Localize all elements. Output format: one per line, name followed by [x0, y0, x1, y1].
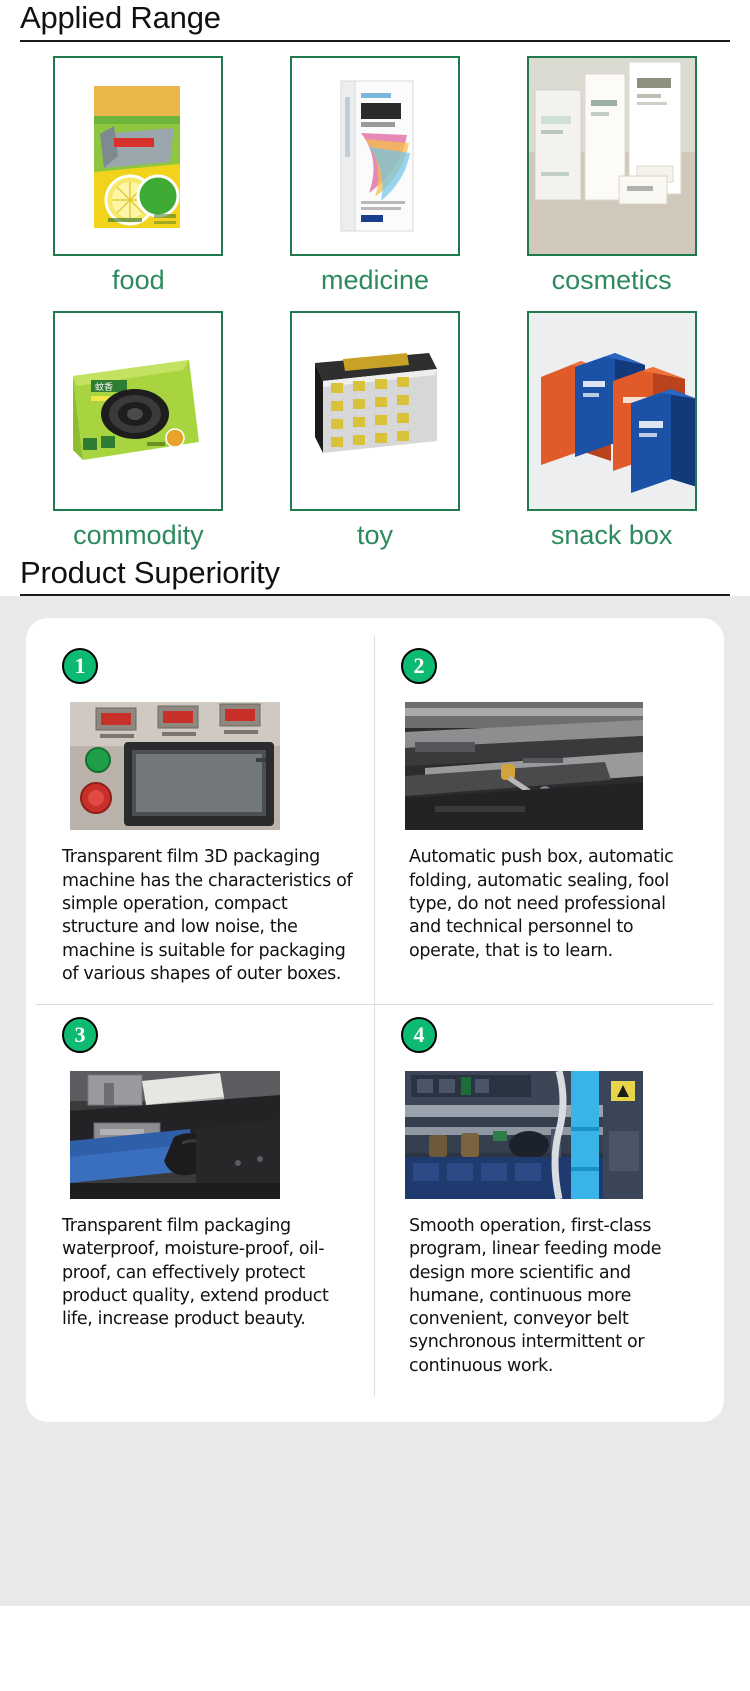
feature-number-badge: 2 — [401, 648, 437, 684]
feature-description: Transparent film packaging waterproof, m… — [62, 1215, 356, 1331]
svg-text:蚊香: 蚊香 — [95, 381, 113, 393]
feature-item-1[interactable]: 1 — [36, 636, 375, 1005]
sealing-blade-photo — [70, 1071, 280, 1199]
feature-number-badge: 3 — [62, 1017, 98, 1053]
feature-number-badge: 4 — [401, 1017, 437, 1053]
range-item-cosmetics[interactable]: cosmetics — [493, 56, 730, 296]
conveyor-mechanism-photo — [405, 702, 643, 830]
feature-description: Smooth operation, first-class program, l… — [409, 1215, 696, 1378]
control-panel-photo — [70, 702, 280, 830]
range-item-label: cosmetics — [552, 266, 672, 296]
applied-range-grid: food medicine — [0, 42, 750, 551]
feature-item-3[interactable]: 3 — [36, 1005, 375, 1396]
cosmetics-boxes-photo — [527, 56, 697, 256]
applied-range-section: Applied Range — [0, 0, 750, 551]
snack-boxes-photo — [527, 311, 697, 511]
range-item-medicine[interactable]: medicine — [257, 56, 494, 296]
feature-description: Automatic push box, automatic folding, a… — [409, 846, 696, 962]
range-item-snack-box[interactable]: snack box — [493, 311, 730, 551]
range-item-food[interactable]: food — [20, 56, 257, 296]
range-item-label: commodity — [73, 521, 204, 551]
range-item-commodity[interactable]: 蚊香 commodity — [20, 311, 257, 551]
medicine-box-photo — [290, 56, 460, 256]
feature-item-2[interactable]: 2 — [375, 636, 714, 1005]
range-item-label: toy — [357, 521, 393, 551]
feature-card-panel: 1 — [26, 618, 724, 1421]
product-superiority-heading: Product Superiority — [0, 557, 750, 590]
superiority-body: 1 — [0, 596, 750, 1606]
applied-range-heading: Applied Range — [0, 2, 750, 35]
feature-item-4[interactable]: 4 — [375, 1005, 714, 1396]
feeding-conveyor-photo — [405, 1071, 643, 1199]
range-item-label: medicine — [321, 266, 429, 296]
commodity-box-photo: 蚊香 — [53, 311, 223, 511]
food-box-photo — [53, 56, 223, 256]
range-item-label: snack box — [551, 521, 673, 551]
range-item-toy[interactable]: toy — [257, 311, 494, 551]
range-item-label: food — [112, 266, 165, 296]
toy-boxes-photo — [290, 311, 460, 511]
feature-description: Transparent film 3D packaging machine ha… — [62, 846, 356, 986]
product-superiority-section: Product Superiority 1 — [0, 557, 750, 1607]
feature-number-badge: 1 — [62, 648, 98, 684]
